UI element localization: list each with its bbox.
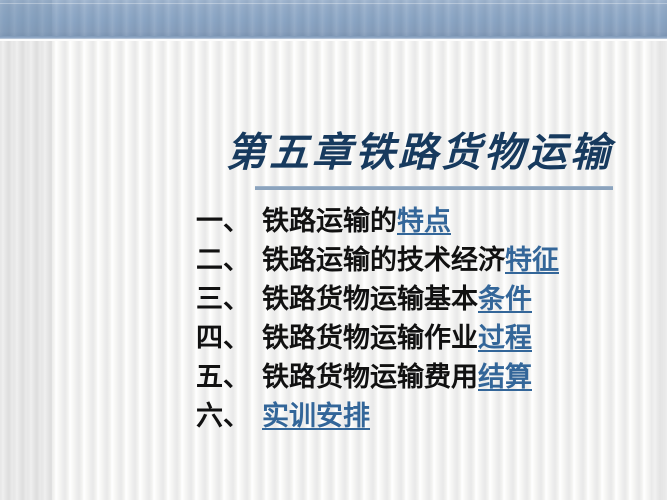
list-item: 六、 实训安排 — [0, 397, 667, 436]
list-item-text: 铁路运输的技术经济 — [262, 241, 505, 280]
list-item-number: 五、 — [196, 358, 262, 397]
list-item-text: 铁路货物运输费用 — [262, 358, 478, 397]
list-item-number: 六、 — [196, 397, 262, 436]
title-divider-rule — [255, 186, 613, 190]
banner-bottom-spacer — [0, 39, 667, 41]
list-item-text: 铁路货物运输作业 — [262, 319, 478, 358]
banner-highlight-line — [0, 3, 667, 4]
list-item: 一、 铁路运输的 特点 — [0, 202, 667, 241]
list-item-number: 四、 — [196, 319, 262, 358]
outline-list: 一、 铁路运输的 特点 二、 铁路运输的技术经济 特征 三、 铁路货物运输基本 … — [0, 202, 667, 436]
list-item-text: 铁路运输的 — [262, 202, 397, 241]
list-item-number: 一、 — [196, 202, 262, 241]
list-item-number: 三、 — [196, 280, 262, 319]
list-item-link[interactable]: 实训安排 — [262, 397, 370, 436]
top-banner — [0, 0, 667, 36]
list-item-link[interactable]: 过程 — [478, 319, 532, 358]
title-block: 第五章铁路货物运输 — [0, 128, 667, 178]
list-item: 三、 铁路货物运输基本 条件 — [0, 280, 667, 319]
list-item-link[interactable]: 特征 — [505, 241, 559, 280]
page-title: 第五章铁路货物运输 — [0, 128, 667, 178]
banner-left-tint — [0, 0, 52, 36]
presentation-slide: 第五章铁路货物运输 一、 铁路运输的 特点 二、 铁路运输的技术经济 特征 三、… — [0, 0, 667, 500]
list-item-link[interactable]: 结算 — [478, 358, 532, 397]
banner-stripe-texture — [0, 0, 667, 36]
list-item-text: 铁路货物运输基本 — [262, 280, 478, 319]
list-item: 四、 铁路货物运输作业 过程 — [0, 319, 667, 358]
list-item: 二、 铁路运输的技术经济 特征 — [0, 241, 667, 280]
list-item-link[interactable]: 特点 — [397, 202, 451, 241]
list-item-link[interactable]: 条件 — [478, 280, 532, 319]
list-item: 五、 铁路货物运输费用 结算 — [0, 358, 667, 397]
list-item-number: 二、 — [196, 241, 262, 280]
